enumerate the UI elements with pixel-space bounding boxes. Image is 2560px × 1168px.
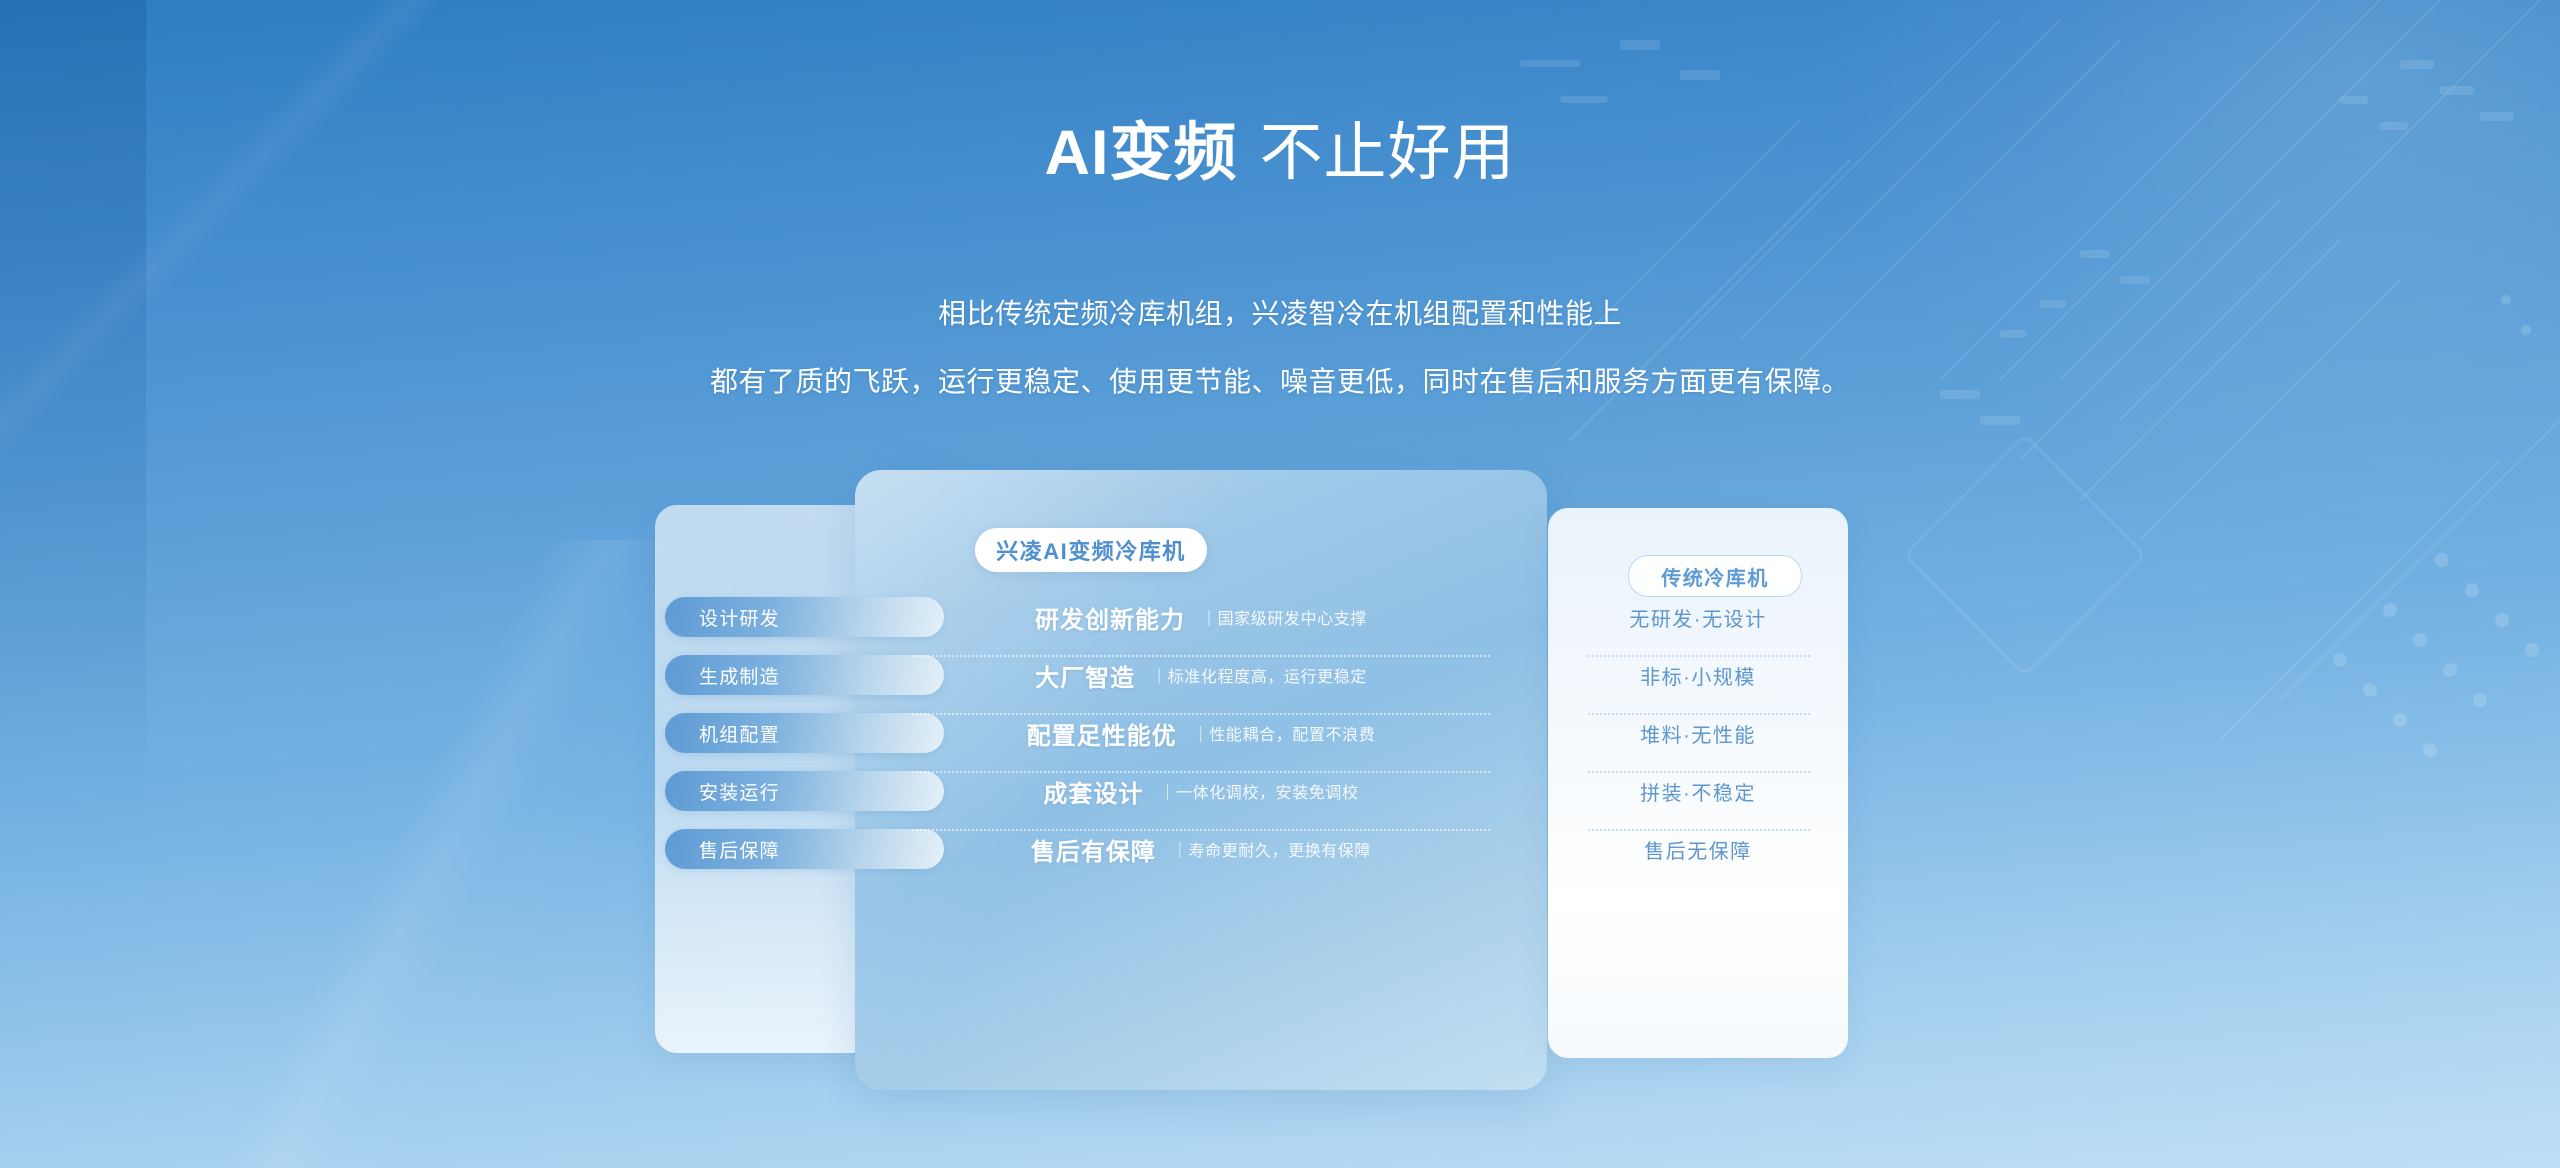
traditional-feature-text: 售后无保障 bbox=[1644, 835, 1752, 864]
page-subtitle: 相比传统定频冷库机组，兴凌智冷在机组配置和性能上 都有了质的飞跃，运行更稳定、使… bbox=[0, 280, 2560, 416]
traditional-product-card-title-pill: 传统冷库机 bbox=[1628, 555, 1802, 597]
page-title-strong: AI变频 bbox=[1045, 118, 1238, 188]
ai-feature-row: 成套设计 ｜一体化调校，安装免调校 bbox=[855, 771, 1547, 811]
ai-feature-title: 大厂智造 bbox=[1035, 658, 1135, 693]
ai-feature-desc: ｜标准化程度高，运行更稳定 bbox=[1151, 663, 1367, 687]
ai-feature-desc: ｜性能耦合，配置不浪费 bbox=[1193, 721, 1376, 745]
promo-banner: AI变频不止好用 相比传统定频冷库机组，兴凌智冷在机组配置和性能上 都有了质的飞… bbox=[0, 0, 2560, 1168]
page-title: AI变频不止好用 bbox=[0, 122, 2560, 185]
ai-feature-desc: ｜一体化调校，安装免调校 bbox=[1159, 779, 1358, 803]
category-pill-label: 安装运行 bbox=[699, 778, 780, 805]
ai-feature-title: 配置足性能优 bbox=[1027, 716, 1177, 751]
ai-feature-title: 研发创新能力 bbox=[1035, 600, 1185, 635]
category-pill-label: 生成制造 bbox=[699, 662, 780, 689]
ai-product-card-title-pill: 兴凌AI变频冷库机 bbox=[975, 528, 1207, 572]
traditional-feature-row: 非标·小规模 bbox=[1548, 655, 1848, 695]
category-pill-label: 机组配置 bbox=[699, 720, 780, 747]
ai-feature-desc: ｜国家级研发中心支撑 bbox=[1201, 605, 1367, 629]
ai-feature-title: 售后有保障 bbox=[1031, 832, 1156, 867]
ai-feature-row: 配置足性能优 ｜性能耦合，配置不浪费 bbox=[855, 713, 1547, 753]
page-subtitle-line-1: 相比传统定频冷库机组，兴凌智冷在机组配置和性能上 bbox=[0, 280, 2560, 348]
page-subtitle-line-2: 都有了质的飞跃，运行更稳定、使用更节能、噪音更低，同时在售后和服务方面更有保障。 bbox=[0, 348, 2560, 416]
traditional-feature-row: 拼装·不稳定 bbox=[1548, 771, 1848, 811]
category-pill-label: 售后保障 bbox=[699, 836, 780, 863]
ai-feature-title: 成套设计 bbox=[1043, 774, 1143, 809]
traditional-feature-row: 堆料·无性能 bbox=[1548, 713, 1848, 753]
ai-feature-desc: ｜寿命更耐久，更换有保障 bbox=[1172, 837, 1371, 861]
background-glow bbox=[1820, 0, 2560, 540]
comparison-module: 兴凌AI变频冷库机 传统冷库机 设计研发 生成制造 机组配置 安装运行 售后保障… bbox=[650, 460, 1920, 1100]
page-title-light: 不止好用 bbox=[1260, 118, 1516, 188]
ai-product-card-title: 兴凌AI变频冷库机 bbox=[996, 534, 1186, 566]
traditional-feature-row: 售后无保障 bbox=[1548, 829, 1848, 869]
traditional-feature-text: 无研发·无设计 bbox=[1629, 603, 1766, 632]
ai-feature-row: 售后有保障 ｜寿命更耐久，更换有保障 bbox=[855, 829, 1547, 869]
traditional-feature-row: 无研发·无设计 bbox=[1548, 597, 1848, 637]
category-pill-label: 设计研发 bbox=[699, 604, 780, 631]
traditional-feature-text: 拼装·不稳定 bbox=[1640, 777, 1756, 806]
ai-feature-row: 大厂智造 ｜标准化程度高，运行更稳定 bbox=[855, 655, 1547, 695]
ai-feature-row: 研发创新能力 ｜国家级研发中心支撑 bbox=[855, 597, 1547, 637]
traditional-feature-text: 非标·小规模 bbox=[1640, 661, 1756, 690]
traditional-product-card-title: 传统冷库机 bbox=[1661, 562, 1769, 591]
traditional-feature-text: 堆料·无性能 bbox=[1640, 719, 1756, 748]
